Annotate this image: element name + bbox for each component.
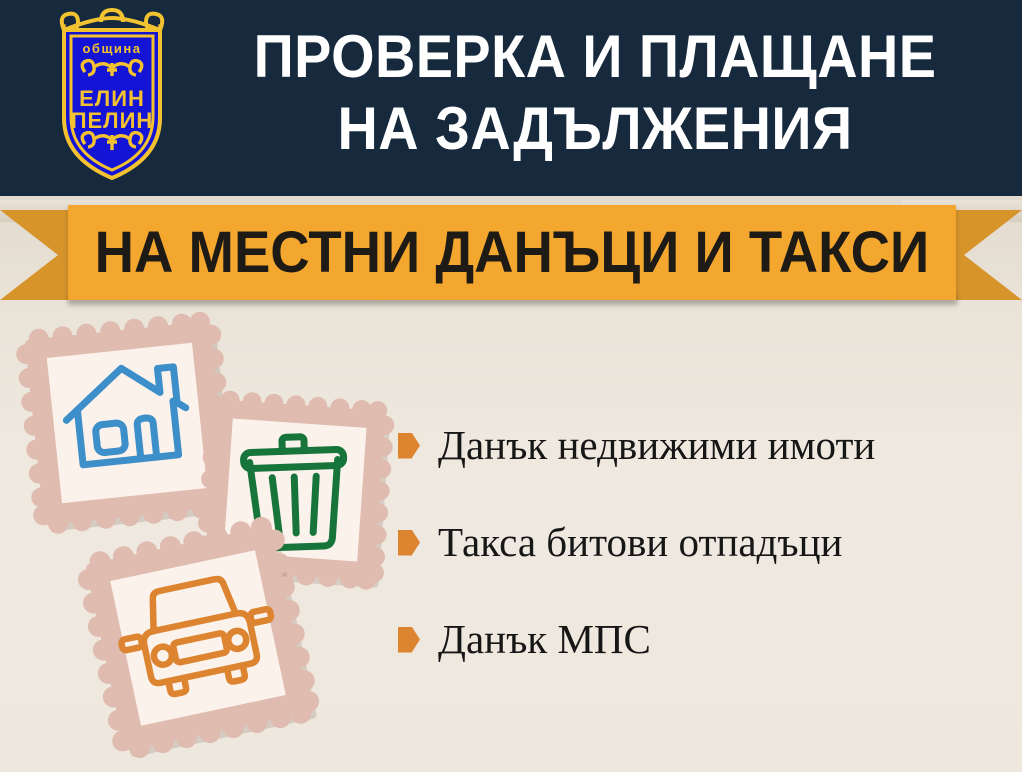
ribbon-text: НА МЕСТНИ ДАНЪЦИ И ТАКСИ xyxy=(95,219,930,286)
arrow-bullet-icon xyxy=(398,433,420,459)
list-item-label: Такса битови отпадъци xyxy=(438,522,842,563)
list-item[interactable]: Данък недвижими имоти xyxy=(398,425,1018,466)
logo-line-pelin: ПЕЛИН xyxy=(71,108,154,133)
list-item[interactable]: Такса битови отпадъци xyxy=(398,522,1018,563)
stamp-card-group xyxy=(0,300,420,772)
page-title-line-2: НА ЗАДЪЛЖЕНИЯ xyxy=(218,98,971,160)
stamp-card-vehicle-tax xyxy=(78,518,318,758)
page-title-line-1: ПРОВЕРКА И ПЛАЩАНЕ xyxy=(218,26,971,88)
arrow-bullet-icon xyxy=(398,530,420,556)
list-item-label: Данък недвижими имоти xyxy=(438,425,875,466)
header-bar: община ЕЛИН ПЕЛИН ПРОВЕРКА И ПЛАЩАНЕ НА … xyxy=(0,0,1022,196)
list-item-label: Данък МПС xyxy=(438,619,651,660)
subtitle-ribbon: НА МЕСТНИ ДАНЪЦИ И ТАКСИ xyxy=(0,196,1022,310)
ribbon-band: НА МЕСТНИ ДАНЪЦИ И ТАКСИ xyxy=(68,205,956,300)
municipality-logo: община ЕЛИН ПЕЛИН xyxy=(38,8,186,188)
list-item[interactable]: Данък МПС xyxy=(398,619,1018,660)
arrow-bullet-icon xyxy=(398,627,420,653)
logo-line-small: община xyxy=(82,41,141,56)
tax-type-list: Данък недвижими имоти Такса битови отпад… xyxy=(398,425,1018,716)
page-title: ПРОВЕРКА И ПЛАЩАНЕ НА ЗАДЪЛЖЕНИЯ xyxy=(190,14,1000,160)
poster-canvas: община ЕЛИН ПЕЛИН ПРОВЕРКА И ПЛАЩАНЕ НА … xyxy=(0,0,1022,772)
